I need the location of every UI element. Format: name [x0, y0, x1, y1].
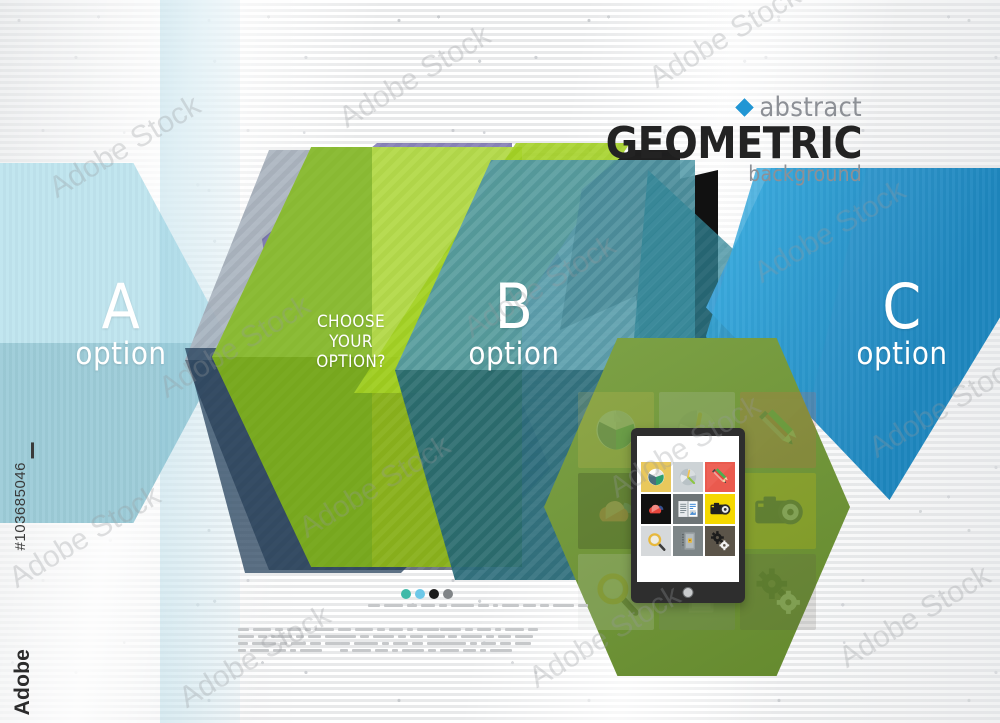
placeholder-line — [238, 649, 348, 652]
home-button[interactable] — [683, 587, 694, 598]
placeholder-line — [238, 628, 348, 631]
book-icon[interactable] — [673, 494, 703, 524]
placeholder-caption — [368, 604, 588, 611]
app-icon-grid[interactable] — [641, 462, 735, 556]
poster-canvas: A option B option C option CHOOSE YOUR O… — [0, 0, 1000, 723]
pencil-icon[interactable] — [705, 462, 735, 492]
tablet-screen — [637, 436, 739, 582]
cloud-icon[interactable] — [641, 494, 671, 524]
placeholder-line — [368, 604, 588, 607]
tablet-device[interactable] — [631, 428, 745, 603]
diamond-icon — [736, 98, 754, 116]
clock-chart-icon[interactable] — [673, 462, 703, 492]
placeholder-line — [428, 649, 538, 652]
placeholder-line — [428, 635, 538, 638]
gears-icon[interactable] — [705, 526, 735, 556]
placeholder-line — [238, 642, 348, 645]
asset-id-label: #103685046 — [12, 462, 29, 550]
camera-icon[interactable] — [705, 494, 735, 524]
adobe-brand-label: Adobe — [11, 649, 35, 715]
pager-dots[interactable] — [401, 589, 453, 599]
placeholder-column-3 — [428, 628, 538, 656]
headline-block: abstract GEOMETRIC background — [606, 92, 862, 186]
headline-geometric: GEOMETRIC — [606, 124, 862, 164]
placeholder-line — [428, 642, 538, 645]
pager-dot-4[interactable] — [443, 589, 453, 599]
pie-chart-icon[interactable] — [641, 462, 671, 492]
pager-dot-3[interactable] — [429, 589, 439, 599]
placeholder-line — [428, 628, 538, 631]
search-icon[interactable] — [641, 526, 671, 556]
placeholder-column-1 — [238, 628, 348, 656]
pager-dot-2[interactable] — [415, 589, 425, 599]
pager-dot-1[interactable] — [401, 589, 411, 599]
notebook-icon[interactable] — [673, 526, 703, 556]
placeholder-line — [238, 635, 348, 638]
